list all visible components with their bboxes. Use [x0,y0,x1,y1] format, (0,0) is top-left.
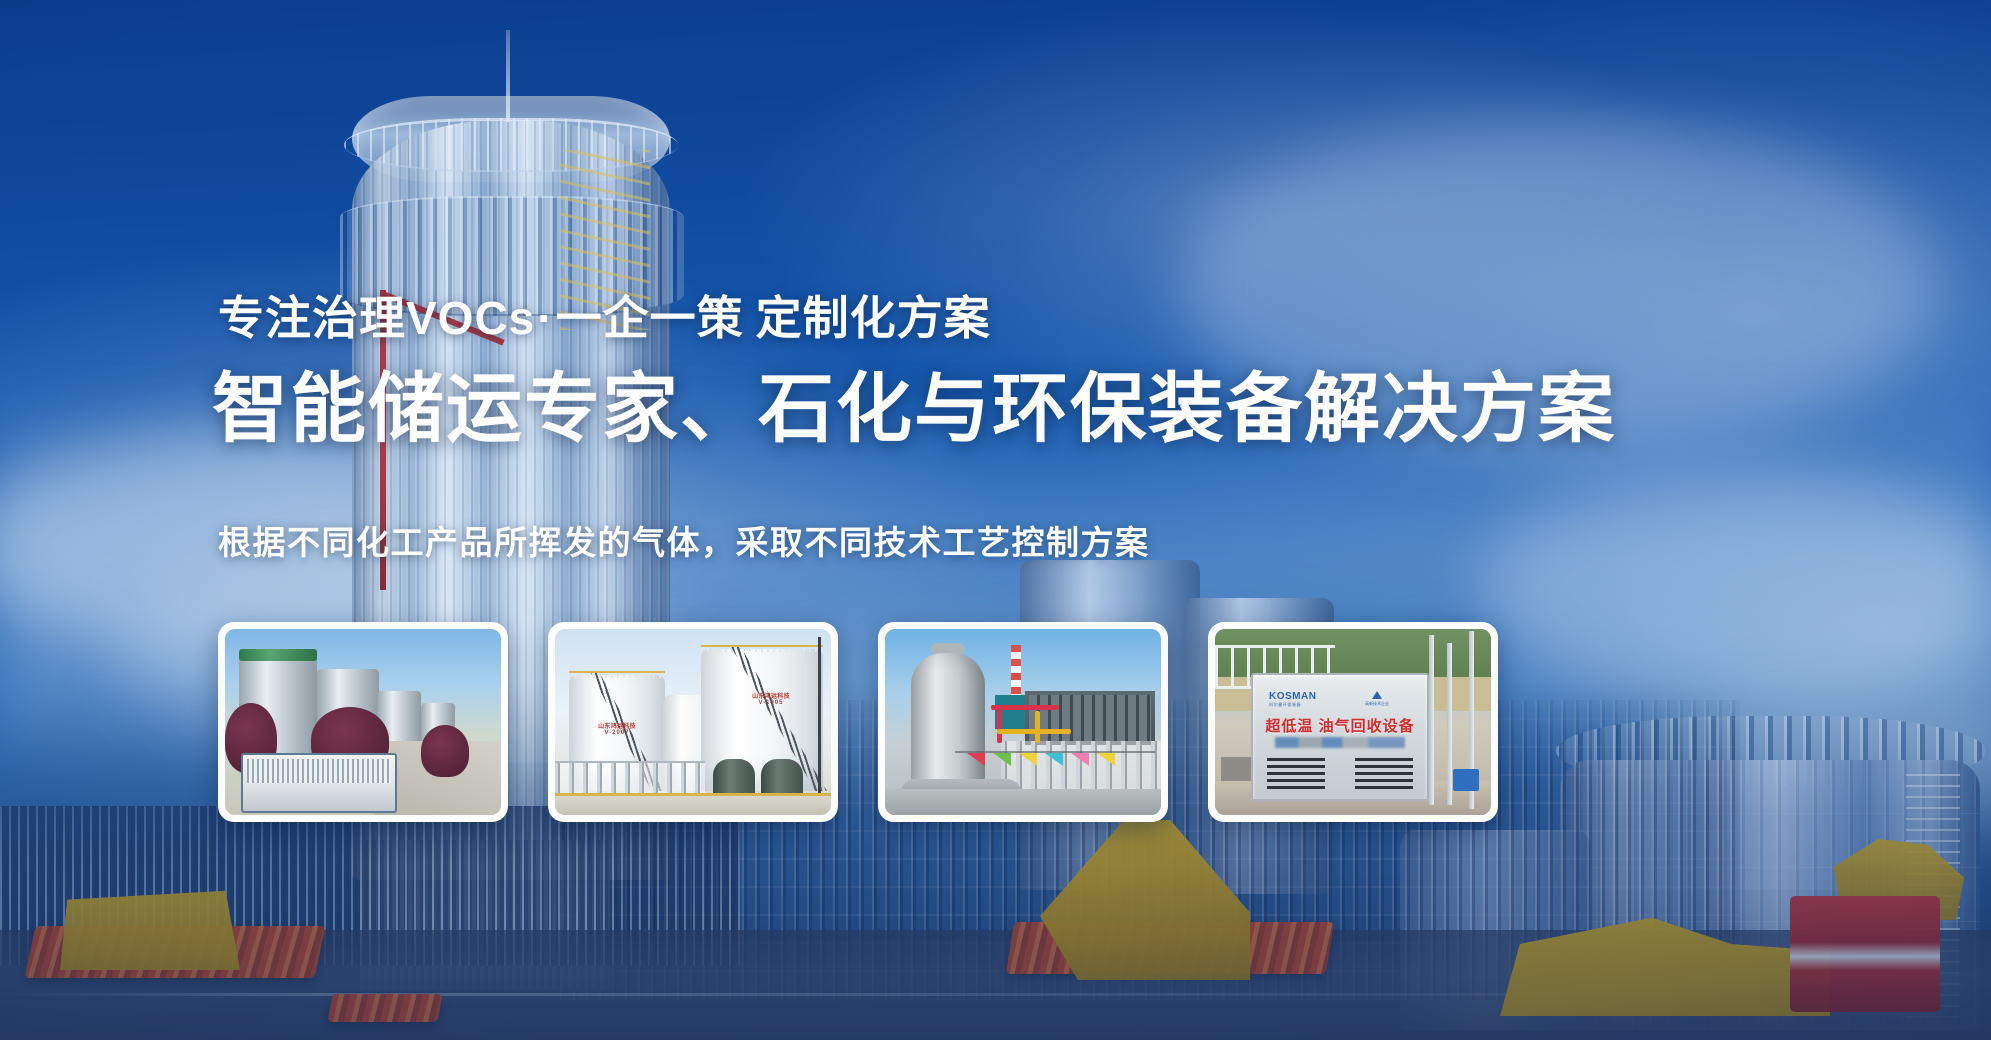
support-post [1429,635,1434,805]
red-truck [1790,896,1940,1012]
ground-base [885,789,1161,815]
kosman-logo: KOSMAN [1269,691,1316,702]
yellow-pipe [1035,711,1040,743]
badge-label: 高新技术企业 [1365,701,1389,706]
thumbnail-image-kosman-recovery-cabinet: KOSMAN 科尔曼环保装备 高新技术企业 超低温 油气回收设备 [1215,629,1491,815]
yellow-pipe [997,729,1071,734]
thumbnail-image-pressure-vessel-piping [885,629,1161,815]
tank-code: V-1005 [731,700,811,706]
process-unit [1025,691,1155,745]
hero-headline: 智能储运专家、石化与环保装备解决方案 [212,370,1616,450]
tank-rim [701,645,823,652]
tank-roof [239,649,317,661]
blue-container [1453,769,1479,791]
tank-label: 山东鸿运科技V-2007 [581,721,653,736]
thumbnail-card[interactable]: 山东鸿运科技V-2007 山东鸿运科技V-1005 [548,622,838,822]
eyebrow-separator: · [535,292,555,344]
tank-rim [569,671,665,678]
hero-content: 专注治理VOCs·一企一策定制化方案 智能储运专家、石化与环保装备解决方案 根据… [218,0,1618,1040]
ventilation-louver [1355,755,1413,789]
thumbnail-card[interactable] [878,622,1168,822]
hero-subline: 根据不同化工产品所挥发的气体，采取不同技术工艺控制方案 [218,516,1150,564]
bunting-wire [955,751,1155,753]
thumbnail-image-tank-farm-equipment [225,629,501,815]
support-post [1447,643,1452,805]
product-title: 超低温 油气回收设备 [1257,715,1423,736]
thumbnail-card[interactable] [218,622,508,822]
hero-banner: 专注治理VOCs·一企一策定制化方案 智能储运专家、石化与环保装备解决方案 根据… [0,0,1991,1040]
ventilation-louver [1267,755,1325,789]
eyebrow-middle: 一企一策 [556,292,744,344]
hightech-badge: 高新技术企业 [1365,691,1389,707]
shrub [421,725,469,777]
blurred-company-line [1275,737,1405,748]
tank-label: 山东鸿运科技V-1005 [731,691,811,706]
thumbnail-image-white-storage-tanks: 山东鸿运科技V-2007 山东鸿运科技V-1005 [555,629,831,815]
badge-triangle-icon [1372,691,1382,699]
lightning-pole [818,637,821,807]
eyebrow-main: 专注治理VOCs [218,292,535,344]
hero-eyebrow: 专注治理VOCs·一企一策定制化方案 [218,282,991,348]
thumbnail-card[interactable]: KOSMAN 科尔曼环保装备 高新技术企业 超低温 油气回收设备 [1208,622,1498,822]
eyebrow-tail: 定制化方案 [744,292,991,344]
ground-deck [555,793,831,815]
red-pipe [997,705,1002,743]
equipment-cabinet [241,753,397,813]
thumbnail-strip: 山东鸿运科技V-2007 山东鸿运科技V-1005 [218,622,1498,822]
kosman-logo-subtitle: 科尔曼环保装备 [1269,702,1301,708]
tank-code: V-2007 [581,730,653,736]
